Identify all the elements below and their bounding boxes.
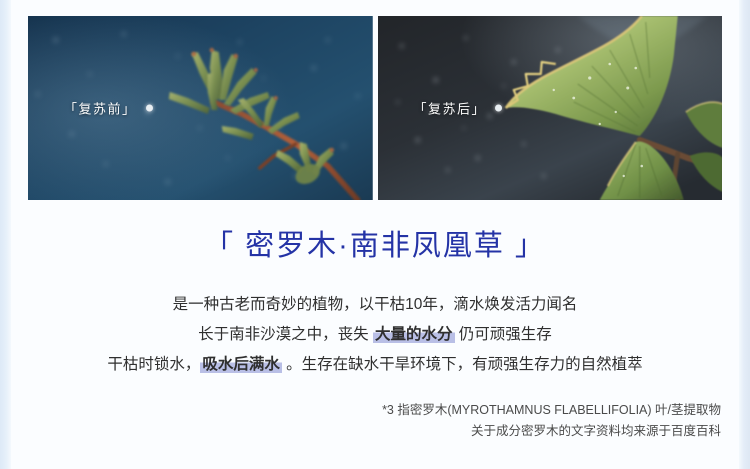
body-line-3-highlight: 吸水后满水 — [200, 356, 282, 373]
body-line-3-text-b: 。生存在缺水干旱环境下，有顽强生存力的自然植萃 — [282, 356, 643, 373]
page-content: 「复苏前」 — [11, 0, 739, 469]
photo-before-revival[interactable]: 「复苏前」 — [28, 16, 373, 200]
photo-after-revival[interactable]: 「复苏后」 — [378, 16, 723, 200]
photo-before-caption-text: 「复苏前」 — [64, 99, 137, 118]
body-line-1: 是一种古老而奇妙的植物，以干枯10年，滴水焕发活力闻名 — [11, 290, 739, 320]
body-line-2: 长于南非沙漠之中，丧失 大量的水分 仍可顽强生存 — [11, 320, 739, 350]
body-line-3-text-a: 干枯时锁水， — [107, 356, 200, 373]
footnotes: *3 指密罗木(MYROTHAMNUS FLABELLIFOLIA) 叶/茎提取… — [382, 400, 721, 442]
white-dot-icon — [146, 105, 153, 112]
body-copy: 是一种古老而奇妙的植物，以干枯10年，滴水焕发活力闻名 长于南非沙漠之中，丧失 … — [11, 290, 739, 380]
photo-after-caption: 「复苏后」 — [414, 99, 503, 118]
footnote-2: 关于成分密罗木的文字资料均来源于百度百科 — [382, 421, 721, 442]
body-line-2-highlight: 大量的水分 — [373, 326, 455, 343]
photo-comparison-strip: 「复苏前」 — [28, 16, 722, 200]
body-line-2-text-a: 长于南非沙漠之中，丧失 — [198, 326, 373, 343]
body-line-2-text-b: 仍可顽强生存 — [455, 326, 552, 343]
page-rail-left — [0, 0, 11, 469]
page-title: 「 密罗木·南非凤凰草 」 — [11, 222, 739, 264]
body-line-3: 干枯时锁水，吸水后满水 。生存在缺水干旱环境下，有顽强生存力的自然植萃 — [11, 350, 739, 380]
body-line-1-text: 是一种古老而奇妙的植物，以干枯10年，滴水焕发活力闻名 — [173, 296, 578, 313]
white-dot-icon — [495, 105, 502, 112]
photo-after-caption-text: 「复苏后」 — [414, 99, 487, 118]
photo-before-caption: 「复苏前」 — [64, 99, 153, 118]
page-rail-right — [739, 0, 750, 469]
footnote-1: *3 指密罗木(MYROTHAMNUS FLABELLIFOLIA) 叶/茎提取… — [382, 400, 721, 421]
